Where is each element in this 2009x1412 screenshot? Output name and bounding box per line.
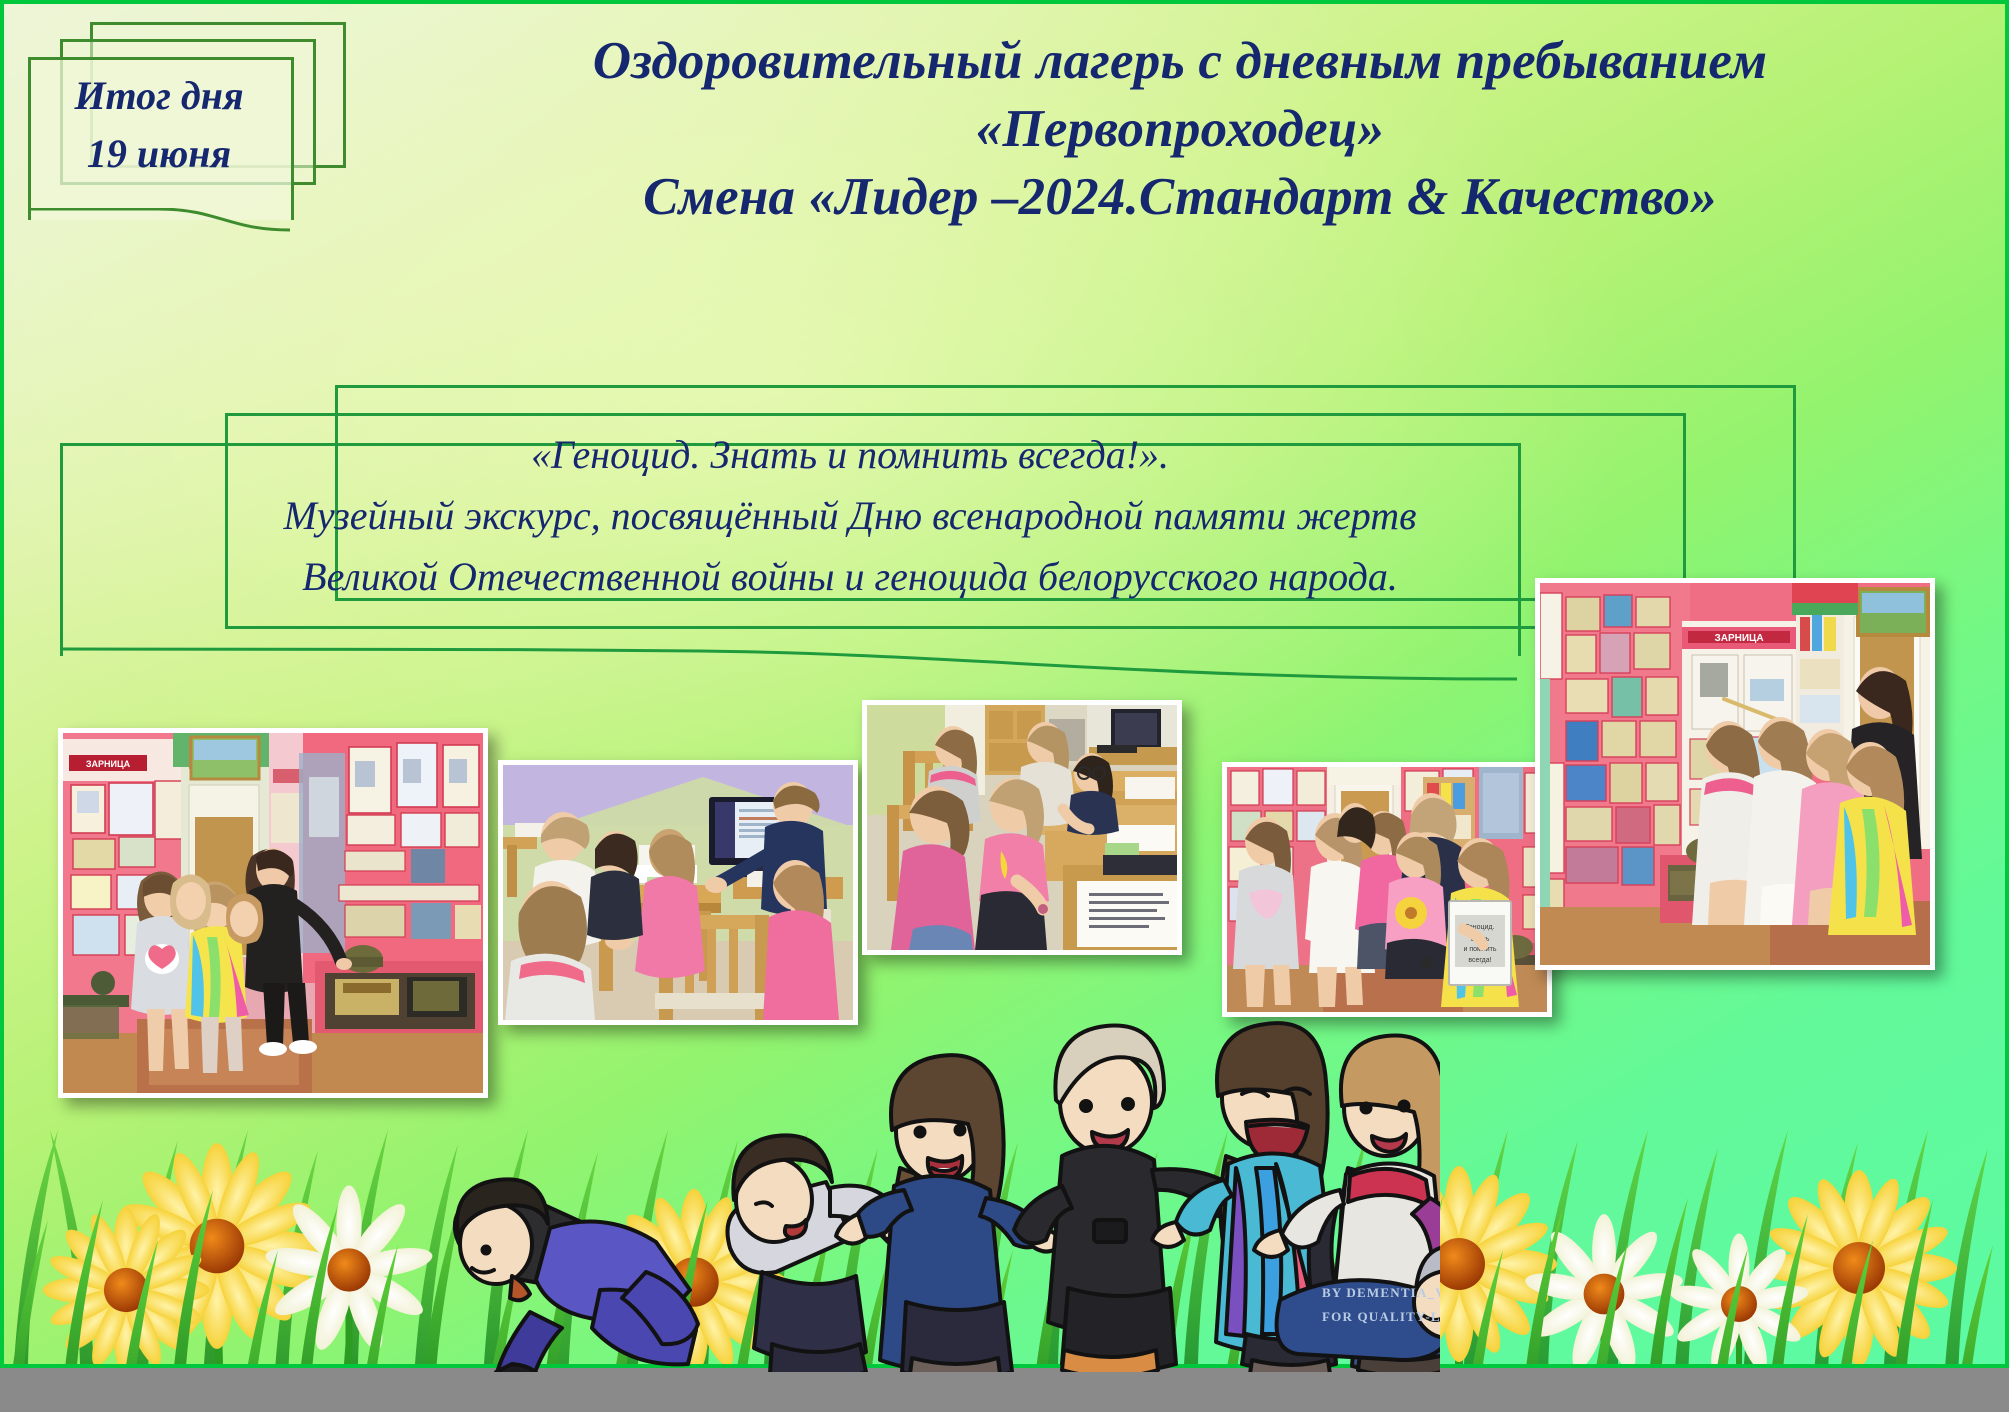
title-line-3: Смена «Лидер –2024.Стандарт & Качество» <box>470 164 1890 232</box>
day-summary-line1: Итог дня <box>28 67 290 125</box>
description-line-1: «Геноцид. Знать и помнить всегда!». <box>175 425 1525 486</box>
slide-root: Итог дня 19 июня Оздоровительный лагерь … <box>0 0 2009 1412</box>
title-line-1: Оздоровительный лагерь с дневным пребыва… <box>470 28 1890 96</box>
day-summary-label: Итог дня 19 июня <box>28 67 290 183</box>
bottom-gray-bar <box>0 1368 2009 1412</box>
description-text: «Геноцид. Знать и помнить всегда!». Музе… <box>175 425 1525 607</box>
watermark-line-2: FOR QUALITY-LAB.RU <box>1322 1309 1440 1324</box>
photo-5-image: ЗАРНИЦА <box>1540 583 1930 965</box>
svg-text:ЗАРНИЦА: ЗАРНИЦА <box>86 759 131 769</box>
watermark-line-1: BY DEMENTIA_VIKKO <box>1322 1285 1440 1300</box>
cartoon-group-illustration: .ol{stroke:#121212;stroke-width:4;stroke… <box>400 972 1440 1372</box>
photo-5-banner-text: ЗАРНИЦА <box>1714 633 1763 644</box>
day-summary-card: Итог дня 19 июня <box>28 22 348 212</box>
description-line-3: Великой Отечественной войны и геноцида б… <box>175 547 1525 608</box>
page-title: Оздоровительный лагерь с дневным пребыва… <box>470 28 1890 231</box>
title-line-2: «Первопроходец» <box>470 96 1890 164</box>
cartoon-group-svg: .ol{stroke:#121212;stroke-width:4;stroke… <box>400 972 1440 1372</box>
photo-5[interactable]: ЗАРНИЦА <box>1535 578 1935 970</box>
description-line-2: Музейный экскурс, посвящённый Дню всенар… <box>175 486 1525 547</box>
svg-text:всегда!: всегда! <box>1468 957 1491 964</box>
day-summary-line2: 19 июня <box>28 125 290 183</box>
card-wave-edge <box>28 208 292 234</box>
photo-3-image <box>867 705 1177 950</box>
photo-3[interactable] <box>862 700 1182 955</box>
desc-wave-edge <box>60 647 1519 685</box>
